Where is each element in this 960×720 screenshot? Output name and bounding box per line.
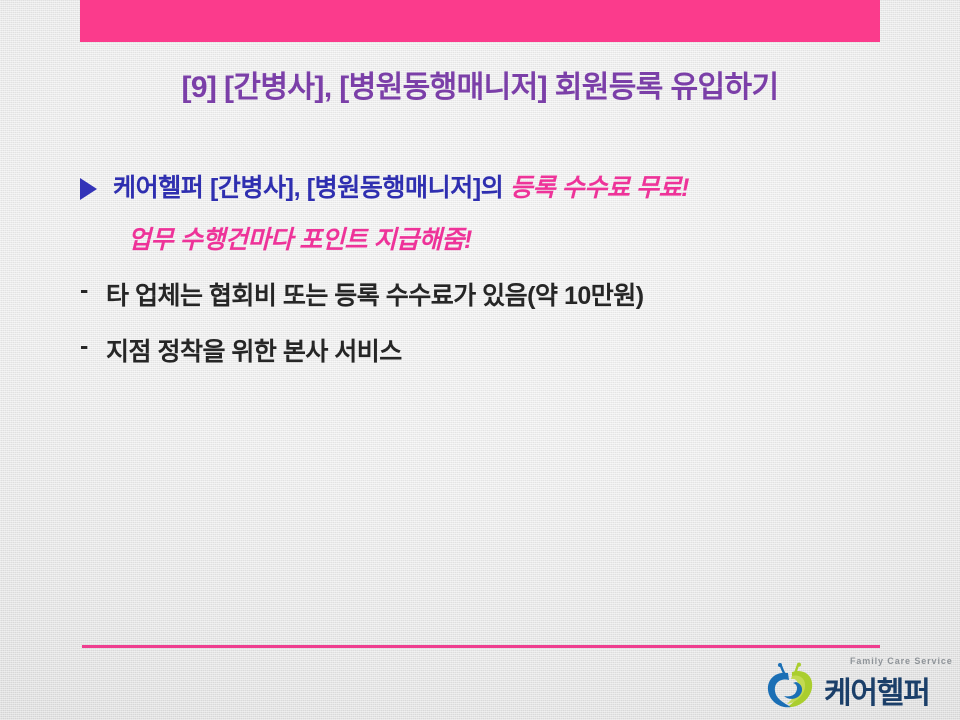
footer-divider (82, 645, 880, 648)
bullet-1-highlight-text: 등록 수수료 무료! (510, 168, 689, 204)
dash-marker-icon: - (80, 276, 94, 305)
subline-text: 업무 수행건마다 포인트 지급해줌! (128, 220, 472, 256)
triangle-right-icon (80, 178, 97, 200)
slide-body: 케어헬퍼 [간병사], [병원동행매니저]의 등록 수수료 무료! 업무 수행건… (0, 168, 960, 388)
dash-item-1: - 타 업체는 협회비 또는 등록 수수료가 있음(약 10만원) (0, 276, 960, 332)
bullet-1-primary-text: 케어헬퍼 [간병사], [병원동행매니저]의 (113, 168, 503, 204)
brand-logo: Family Care Service 케어헬퍼 (762, 656, 958, 716)
logo-tagline: Family Care Service (850, 656, 953, 666)
care-helper-swirl-icon (762, 662, 820, 712)
top-accent-bar (80, 0, 880, 42)
slide-canvas: [9] [간병사], [병원동행매니저] 회원등록 유입하기 케어헬퍼 [간병사… (0, 0, 960, 720)
bullet-item-1-subline: 업무 수행건마다 포인트 지급해줌! (0, 220, 960, 276)
dash-item-1-text: 타 업체는 협회비 또는 등록 수수료가 있음(약 10만원) (106, 276, 644, 312)
dash-marker-icon: - (80, 332, 94, 361)
dash-item-2-text: 지점 정착을 위한 본사 서비스 (106, 332, 402, 368)
dash-item-2: - 지점 정착을 위한 본사 서비스 (0, 332, 960, 388)
bullet-item-1: 케어헬퍼 [간병사], [병원동행매니저]의 등록 수수료 무료! (0, 168, 960, 220)
page-title: [9] [간병사], [병원동행매니저] 회원등록 유입하기 (0, 62, 960, 106)
logo-wordmark: 케어헬퍼 (824, 668, 930, 712)
